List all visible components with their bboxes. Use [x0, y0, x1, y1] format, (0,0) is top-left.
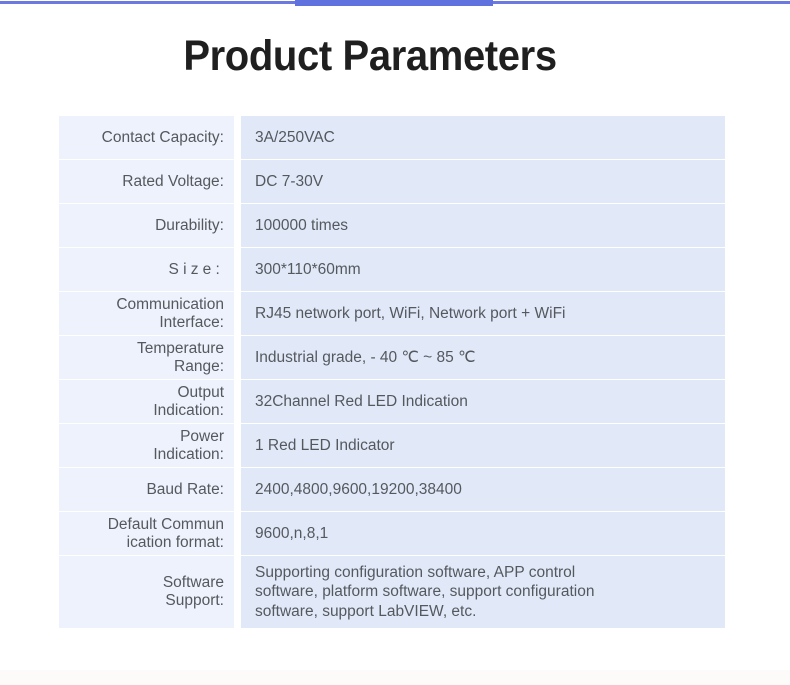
spec-value-cell: 3A/250VAC: [241, 116, 725, 159]
spec-value-cell: 2400,4800,9600,19200,38400: [241, 468, 725, 511]
spec-label-text: Baud Rate:: [146, 481, 224, 499]
table-row: Software Support:Supporting configuratio…: [59, 556, 725, 628]
spec-label-text: Communication Interface:: [116, 296, 224, 332]
table-row: Contact Capacity:3A/250VAC: [59, 116, 725, 159]
spec-value-cell: Industrial grade, - 40 ℃ ~ 85 ℃: [241, 336, 725, 379]
spec-label-cell: Durability:: [59, 204, 234, 247]
spec-value-cell: 300*110*60mm: [241, 248, 725, 291]
top-accent-bar: [0, 0, 790, 4]
spec-label-text: Contact Capacity:: [102, 129, 224, 147]
spec-value-text: 2400,4800,9600,19200,38400: [255, 480, 462, 500]
table-row: Communication Interface:RJ45 network por…: [59, 292, 725, 335]
spec-value-cell: 9600,n,8,1: [241, 512, 725, 555]
table-row: Baud Rate:2400,4800,9600,19200,38400: [59, 468, 725, 511]
spec-value-cell: DC 7-30V: [241, 160, 725, 203]
spec-label-cell: Rated Voltage:: [59, 160, 234, 203]
table-row: Temperature Range:Industrial grade, - 40…: [59, 336, 725, 379]
table-row: Default Commun ication format:9600,n,8,1: [59, 512, 725, 555]
spec-label-text: Output Indication:: [153, 384, 224, 420]
spec-value-text: Supporting configuration software, APP c…: [255, 563, 594, 622]
spec-label-cell: Baud Rate:: [59, 468, 234, 511]
table-row: Output Indication:32Channel Red LED Indi…: [59, 380, 725, 423]
spec-value-text: 3A/250VAC: [255, 128, 335, 148]
spec-label-cell: Power Indication:: [59, 424, 234, 467]
spec-value-text: 1 Red LED Indicator: [255, 436, 395, 456]
top-accent-tab: [295, 0, 493, 6]
spec-label-text: Software Support:: [163, 574, 224, 610]
spec-value-cell: Supporting configuration software, APP c…: [241, 556, 725, 628]
spec-label-text: Power Indication:: [153, 428, 224, 464]
spec-value-cell: 32Channel Red LED Indication: [241, 380, 725, 423]
spec-value-text: 300*110*60mm: [255, 260, 361, 280]
spec-label-text: Rated Voltage:: [122, 173, 224, 191]
spec-label-text: Durability:: [155, 217, 224, 235]
spec-label-cell: Default Commun ication format:: [59, 512, 234, 555]
table-row: Power Indication:1 Red LED Indicator: [59, 424, 725, 467]
spec-label-cell: Size:: [59, 248, 234, 291]
page-title: Product Parameters: [26, 32, 714, 81]
spec-label-text: Size:: [165, 261, 224, 279]
spec-value-text: 32Channel Red LED Indication: [255, 392, 468, 412]
spec-value-cell: 1 Red LED Indicator: [241, 424, 725, 467]
table-row: Rated Voltage:DC 7-30V: [59, 160, 725, 203]
table-row: Durability:100000 times: [59, 204, 725, 247]
spec-value-cell: 100000 times: [241, 204, 725, 247]
spec-value-text: DC 7-30V: [255, 172, 323, 192]
spec-value-text: RJ45 network port, WiFi, Network port + …: [255, 304, 566, 324]
spec-label-cell: Software Support:: [59, 556, 234, 628]
bottom-band: [0, 670, 790, 685]
spec-label-text: Default Commun ication format:: [108, 516, 224, 552]
spec-label-cell: Temperature Range:: [59, 336, 234, 379]
spec-value-cell: RJ45 network port, WiFi, Network port + …: [241, 292, 725, 335]
spec-value-text: 100000 times: [255, 216, 348, 236]
spec-label-cell: Output Indication:: [59, 380, 234, 423]
spec-value-text: Industrial grade, - 40 ℃ ~ 85 ℃: [255, 348, 476, 368]
spec-label-cell: Communication Interface:: [59, 292, 234, 335]
product-parameters-table: Contact Capacity:3A/250VACRated Voltage:…: [59, 116, 725, 629]
spec-label-cell: Contact Capacity:: [59, 116, 234, 159]
spec-label-text: Temperature Range:: [137, 340, 224, 376]
table-row: Size:300*110*60mm: [59, 248, 725, 291]
spec-value-text: 9600,n,8,1: [255, 524, 328, 544]
